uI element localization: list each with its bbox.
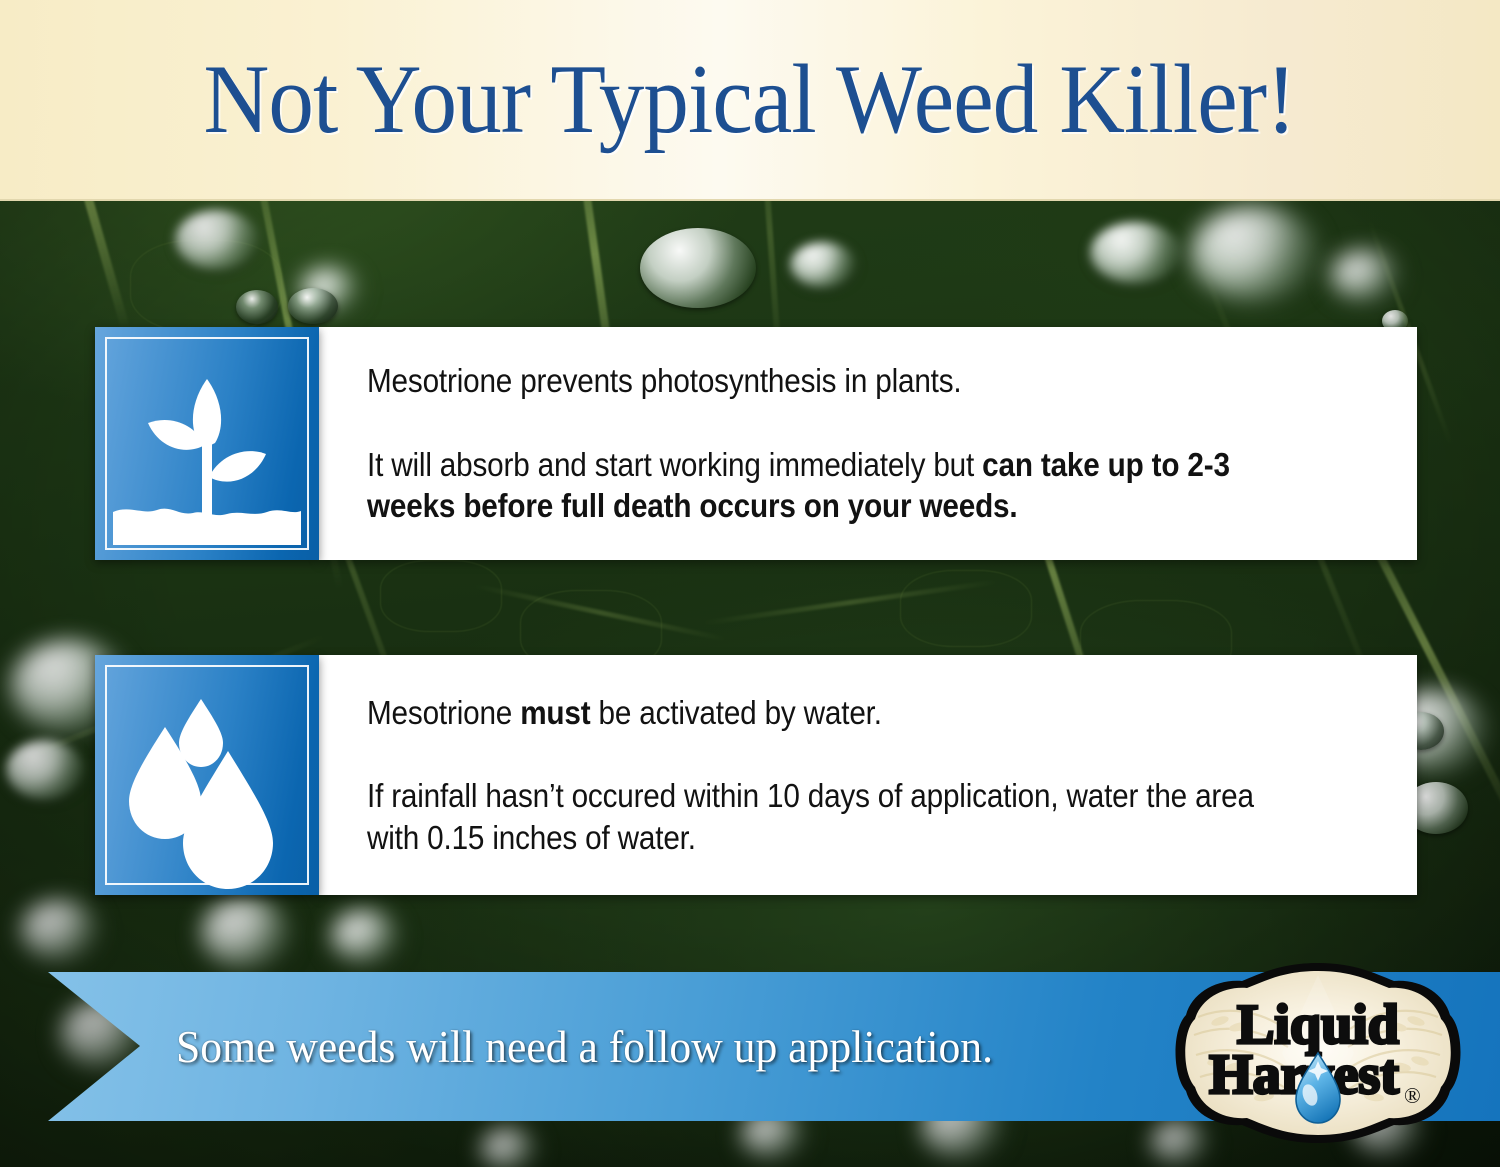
infographic-canvas: Not Your Typical Weed Killer! Mesotrione… (0, 0, 1500, 1167)
card-paragraph: It will absorb and start working immedia… (367, 444, 1280, 527)
card-text-panel: Mesotrione must be activated by water. I… (319, 655, 1417, 895)
icon-inner-frame (105, 337, 309, 550)
liquid-harvest-logo: Liquid Harvest ® (1168, 957, 1468, 1149)
info-card-water-activation: Mesotrione must be activated by water. I… (95, 655, 1417, 895)
card-paragraph: Mesotrione must be activated by water. (367, 692, 1280, 734)
card-text-panel: Mesotrione prevents photosynthesis in pl… (319, 327, 1417, 560)
header-banner: Not Your Typical Weed Killer! (0, 0, 1500, 201)
banner-text: Some weeds will need a follow up applica… (176, 1021, 993, 1073)
icon-inner-frame (105, 665, 309, 885)
plant-sprout-icon (95, 327, 319, 560)
card-paragraph: If rainfall hasn’t occured within 10 day… (367, 775, 1280, 858)
card-paragraph: Mesotrione prevents photosynthesis in pl… (367, 360, 1280, 402)
water-droplets-icon (95, 655, 319, 895)
info-card-mesotrione-photosynthesis: Mesotrione prevents photosynthesis in pl… (95, 327, 1417, 560)
logo-trademark: ® (1404, 1083, 1421, 1108)
page-title: Not Your Typical Weed Killer! (204, 50, 1296, 149)
